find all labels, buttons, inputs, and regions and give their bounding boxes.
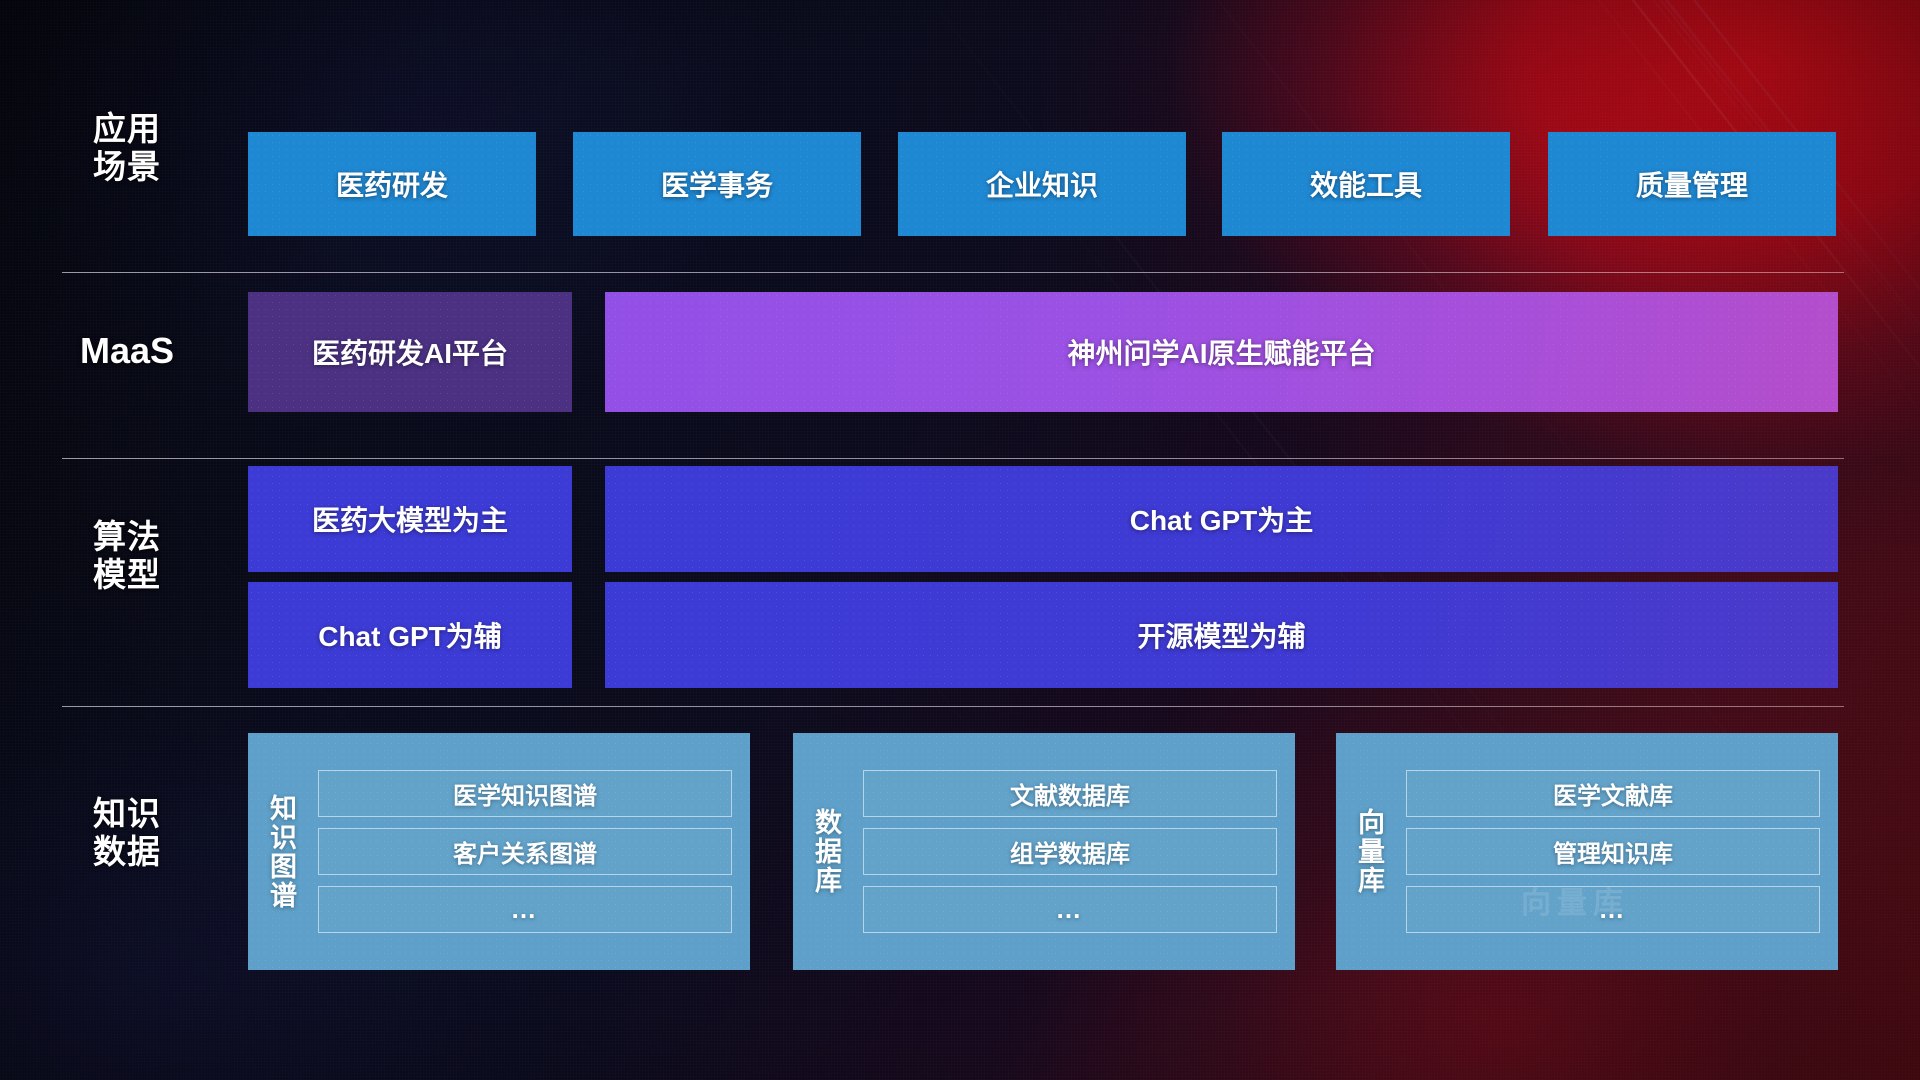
- app-card-5-label: 质量管理: [1636, 164, 1748, 204]
- app-card-1-label: 医药研发: [336, 164, 448, 204]
- algo-card-primary-pharma[interactable]: 医药大模型为主: [248, 466, 572, 572]
- knowledge-item[interactable]: 组学数据库: [863, 828, 1277, 875]
- app-card-1[interactable]: 医药研发: [248, 132, 536, 236]
- knowledge-item-more[interactable]: …: [863, 886, 1277, 933]
- architecture-diagram: 应用 场景 医药研发 医学事务 企业知识 效能工具 质量管理 MaaS 医药研发…: [0, 0, 1920, 1080]
- knowledge-panel-vector-title: 向量库: [1336, 733, 1400, 970]
- knowledge-item[interactable]: 客户关系图谱: [318, 828, 732, 875]
- knowledge-panel-graph-title: 知识图谱: [248, 733, 312, 970]
- knowledge-panel-vector[interactable]: 向量库 医学文献库 管理知识库 … 向量库: [1336, 733, 1838, 970]
- app-card-2-label: 医学事务: [661, 164, 773, 204]
- algo-card-secondary-gpt[interactable]: Chat GPT为辅: [248, 582, 572, 688]
- algo-card-secondary-opensource-label: 开源模型为辅: [1137, 615, 1305, 655]
- knowledge-panel-graph[interactable]: 知识图谱 医学知识图谱 客户关系图谱 …: [248, 733, 750, 970]
- algo-card-secondary-gpt-label: Chat GPT为辅: [318, 615, 502, 655]
- maas-platform-card[interactable]: 医药研发AI平台: [248, 292, 572, 412]
- knowledge-item[interactable]: 医学知识图谱: [318, 770, 732, 817]
- row-label-knowledge-data: 知识 数据: [62, 795, 192, 872]
- divider-1: [62, 272, 1844, 273]
- app-card-5[interactable]: 质量管理: [1548, 132, 1836, 236]
- divider-2: [62, 458, 1844, 459]
- knowledge-panel-graph-items: 医学知识图谱 客户关系图谱 …: [312, 733, 750, 970]
- algo-card-primary-gpt[interactable]: Chat GPT为主: [605, 466, 1838, 572]
- algo-card-secondary-opensource[interactable]: 开源模型为辅: [605, 582, 1838, 688]
- row-label-application-scenarios: 应用 场景: [62, 110, 192, 187]
- knowledge-panel-database-items: 文献数据库 组学数据库 …: [857, 733, 1295, 970]
- knowledge-item-more[interactable]: …: [318, 886, 732, 933]
- algo-card-primary-pharma-label: 医药大模型为主: [312, 499, 508, 539]
- knowledge-panel-vector-items: 医学文献库 管理知识库 …: [1400, 733, 1838, 970]
- app-card-2[interactable]: 医学事务: [573, 132, 861, 236]
- maas-enablement-label: 神州问学AI原生赋能平台: [1067, 332, 1375, 372]
- knowledge-item[interactable]: 医学文献库: [1406, 770, 1820, 817]
- divider-3: [62, 706, 1844, 707]
- knowledge-item[interactable]: 管理知识库: [1406, 828, 1820, 875]
- knowledge-item-more[interactable]: …: [1406, 886, 1820, 933]
- app-card-3-label: 企业知识: [986, 164, 1098, 204]
- knowledge-panel-database-title: 数据库: [793, 733, 857, 970]
- maas-enablement-card[interactable]: 神州问学AI原生赋能平台: [605, 292, 1838, 412]
- knowledge-item[interactable]: 文献数据库: [863, 770, 1277, 817]
- maas-platform-label: 医药研发AI平台: [312, 332, 508, 372]
- row-label-algorithm-model: 算法 模型: [62, 518, 192, 595]
- algo-card-primary-gpt-label: Chat GPT为主: [1130, 499, 1314, 539]
- app-card-3[interactable]: 企业知识: [898, 132, 1186, 236]
- app-card-4[interactable]: 效能工具: [1222, 132, 1510, 236]
- app-card-4-label: 效能工具: [1310, 164, 1422, 204]
- knowledge-panel-database[interactable]: 数据库 文献数据库 组学数据库 …: [793, 733, 1295, 970]
- row-label-maas: MaaS: [62, 330, 192, 372]
